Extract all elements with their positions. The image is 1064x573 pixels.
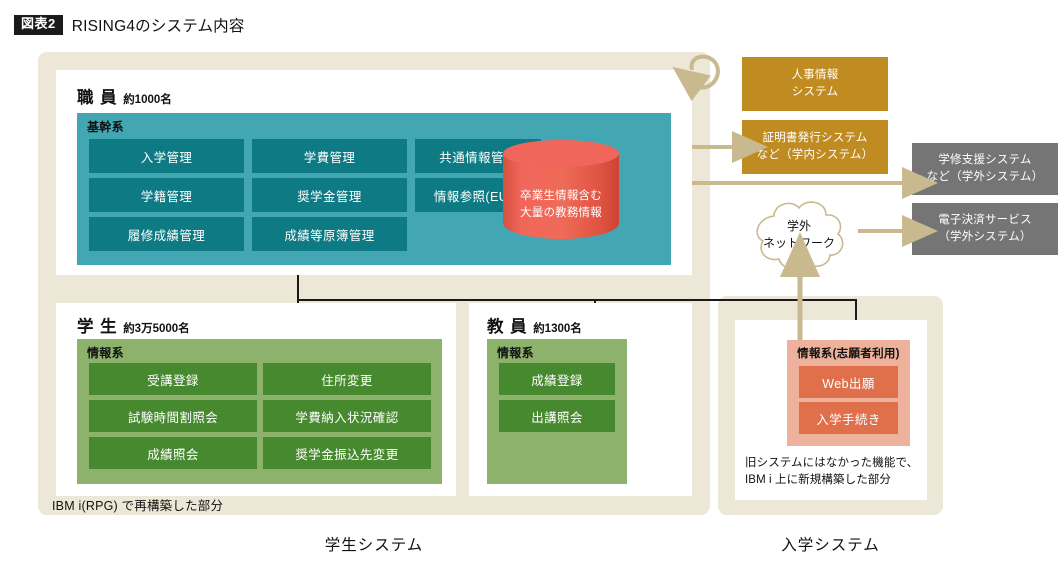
student-chip-jusho-henko[interactable]: 住所変更 xyxy=(263,363,431,395)
faculty-count: 約1300名 xyxy=(533,323,582,335)
staff-chip-gakuhi-kanri[interactable]: 学費管理 xyxy=(252,139,407,173)
admission-note-line1: 旧システムにはなかった機能で、 xyxy=(745,455,935,472)
admission-info-system-block: 情報系(志願者利用) Web出願 入学手続き xyxy=(787,340,910,446)
staff-chip-gakuseki-kanri[interactable]: 学籍管理 xyxy=(89,178,244,212)
admission-chip-web-shutsugan[interactable]: Web出願 xyxy=(799,366,898,398)
cylinder-label-line1: 卒業生情報含む xyxy=(503,188,619,205)
faculty-chip-shukko-shokai[interactable]: 出講照会 xyxy=(499,400,615,432)
student-system-footer-label: 学生システム xyxy=(0,533,748,555)
student-chip-seiseki-shokai[interactable]: 成績照会 xyxy=(89,437,257,469)
hr-information-system-box[interactable]: 人事情報 システム xyxy=(742,57,888,111)
hr-system-line2: システム xyxy=(792,84,839,101)
external-network-cloud: 学外 ネットワーク xyxy=(744,196,854,280)
learning-support-system-box[interactable]: 学修支援システム など（学外システム） xyxy=(912,143,1058,195)
staff-chip-risyu-seiseki[interactable]: 履修成績管理 xyxy=(89,217,244,251)
payment-system-line1: 電子決済サービス xyxy=(938,212,1032,229)
student-heading: 学 生 約3万5000名 xyxy=(77,313,190,337)
payment-system-line2: （学外システム） xyxy=(938,229,1032,246)
cylinder-top-ellipse xyxy=(503,140,619,167)
student-count: 約3万5000名 xyxy=(123,323,189,335)
database-cylinder: 卒業生情報含む 大量の教務情報 xyxy=(503,140,619,252)
cylinder-label-line2: 大量の教務情報 xyxy=(503,205,619,222)
staff-heading: 職 員 約1000名 xyxy=(77,84,172,108)
staff-chip-seiseki-genbo[interactable]: 成績等原簿管理 xyxy=(252,217,407,251)
student-heading-label: 学 生 xyxy=(77,318,118,336)
electronic-payment-service-box[interactable]: 電子決済サービス （学外システム） xyxy=(912,203,1058,255)
page-title: RISING4のシステム内容 xyxy=(72,14,245,36)
admission-chip-nyugaku-tetsuzuki[interactable]: 入学手続き xyxy=(799,402,898,434)
certificate-issuing-system-box[interactable]: 証明書発行システム など（学内システム） xyxy=(742,120,888,174)
staff-chip-shogakukin[interactable]: 奨学金管理 xyxy=(252,178,407,212)
cloud-label-line1: 学外 xyxy=(744,218,854,235)
staff-count: 約1000名 xyxy=(123,94,172,106)
student-info-block-title: 情報系 xyxy=(87,344,124,361)
certificate-system-line2: など（学内システム） xyxy=(757,147,874,164)
student-chip-jukou-touroku[interactable]: 受講登録 xyxy=(89,363,257,395)
admission-note-line2: IBM i 上に新規構築した部分 xyxy=(745,472,935,489)
admission-system-footer-label: 入学システム xyxy=(718,533,943,555)
cylinder-label: 卒業生情報含む 大量の教務情報 xyxy=(503,188,619,221)
student-chip-gakuhi-nonyu[interactable]: 学費納入状況確認 xyxy=(263,400,431,432)
student-chip-shiken-jikanwari[interactable]: 試験時間割照会 xyxy=(89,400,257,432)
learning-system-line1: 学修支援システム xyxy=(927,152,1044,169)
connector-horizontal-bus xyxy=(297,299,857,301)
staff-chip-nyugaku-kanri[interactable]: 入学管理 xyxy=(89,139,244,173)
staff-core-block-title: 基幹系 xyxy=(87,118,124,135)
admission-info-block-title: 情報系(志願者利用) xyxy=(787,345,910,361)
faculty-chip-seiseki-touroku[interactable]: 成績登録 xyxy=(499,363,615,395)
hr-system-line1: 人事情報 xyxy=(792,67,839,84)
learning-system-line2: など（学外システム） xyxy=(927,169,1044,186)
figure-number-badge: 図表2 xyxy=(14,15,63,34)
cloud-label-line2: ネットワーク xyxy=(744,235,854,252)
staff-heading-label: 職 員 xyxy=(77,89,118,107)
faculty-heading: 教 員 約1300名 xyxy=(487,313,582,337)
student-info-system-block: 情報系 受講登録 住所変更 試験時間割照会 学費納入状況確認 成績照会 奨学金振… xyxy=(77,339,442,484)
faculty-info-system-block: 情報系 成績登録 出講照会 xyxy=(487,339,627,484)
faculty-info-block-title: 情報系 xyxy=(497,344,534,361)
student-chip-shogakukin-furikomi[interactable]: 奨学金振込先変更 xyxy=(263,437,431,469)
faculty-heading-label: 教 員 xyxy=(487,318,528,336)
cloud-label: 学外 ネットワーク xyxy=(744,218,854,253)
admission-note: 旧システムにはなかった機能で、 IBM i 上に新規構築した部分 xyxy=(745,455,935,490)
certificate-system-line1: 証明書発行システム xyxy=(757,130,874,147)
ibm-rebuild-caption: IBM i(RPG) で再構築した部分 xyxy=(52,495,223,514)
figure-title-bar: 図表2 RISING4のシステム内容 xyxy=(14,14,245,36)
